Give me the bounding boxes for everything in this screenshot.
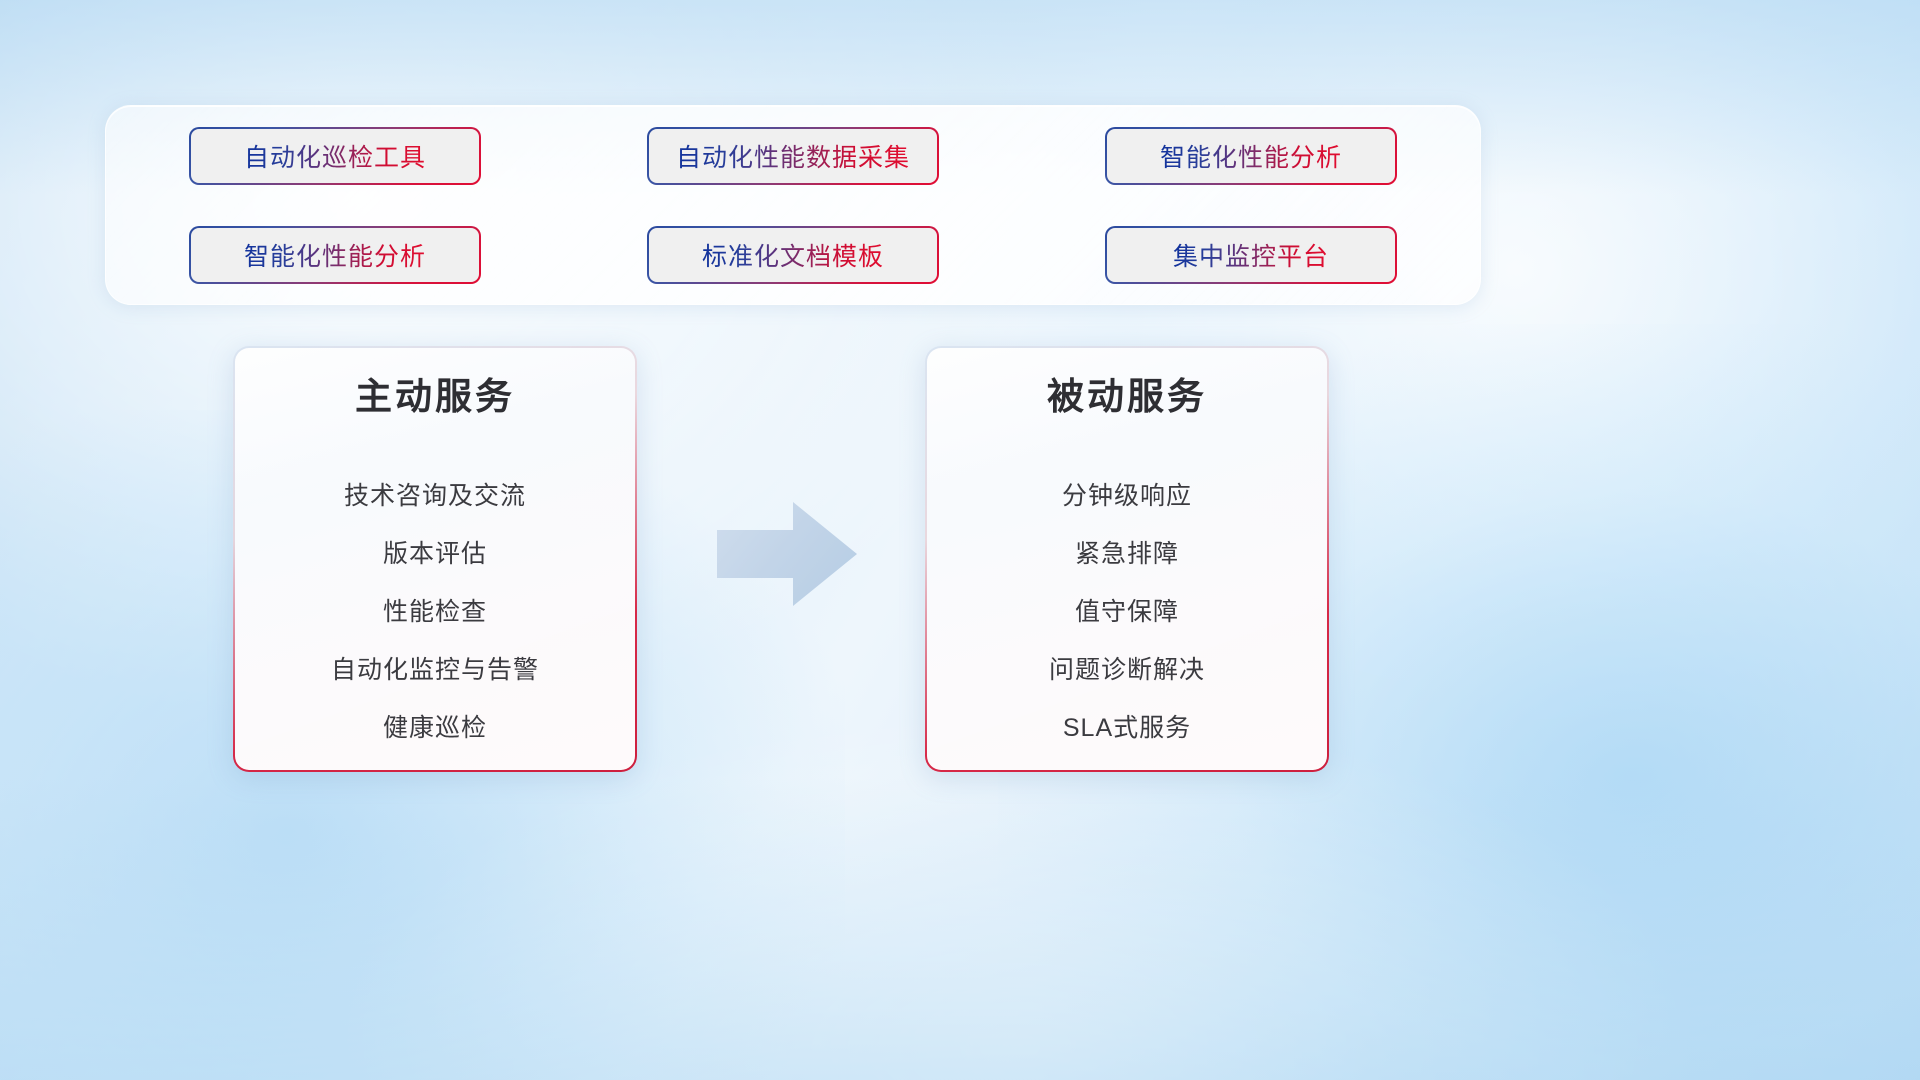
list-item: 分钟级响应 — [1062, 467, 1192, 525]
capability-pill-6[interactable]: 集中监控平台 — [1105, 226, 1397, 284]
capability-pill-4-surface: 智能化性能分析 — [191, 228, 479, 282]
capability-pill-2[interactable]: 自动化性能数据采集 — [647, 127, 939, 185]
capability-pill-3-surface: 智能化性能分析 — [1107, 129, 1395, 183]
capability-pill-6-label: 集中监控平台 — [1173, 237, 1329, 273]
capability-pill-5-label: 标准化文档模板 — [702, 237, 884, 273]
list-item: 性能检查 — [383, 583, 487, 641]
service-card-passive: 被动服务 分钟级响应 紧急排障 值守保障 问题诊断解决 SLA式服务 — [925, 346, 1329, 772]
arrow-right-icon — [717, 500, 857, 608]
list-item: 版本评估 — [383, 525, 487, 583]
list-item: SLA式服务 — [1063, 699, 1191, 757]
capability-pill-2-label: 自动化性能数据采集 — [676, 138, 910, 174]
capability-pill-6-surface: 集中监控平台 — [1107, 228, 1395, 282]
capability-panel: 自动化巡检工具 自动化性能数据采集 智能化性能分析 智能化性能分析 标准化文档模… — [105, 105, 1481, 305]
capability-pill-5-surface: 标准化文档模板 — [649, 228, 937, 282]
list-item: 值守保障 — [1075, 583, 1179, 641]
list-item: 自动化监控与告警 — [331, 641, 539, 699]
list-item: 问题诊断解决 — [1049, 641, 1205, 699]
list-item: 健康巡检 — [383, 699, 487, 757]
capability-pill-3-label: 智能化性能分析 — [1160, 138, 1342, 174]
list-item: 紧急排障 — [1075, 525, 1179, 583]
service-card-active-inner: 主动服务 技术咨询及交流 版本评估 性能检查 自动化监控与告警 健康巡检 — [235, 348, 635, 770]
service-card-active: 主动服务 技术咨询及交流 版本评估 性能检查 自动化监控与告警 健康巡检 — [233, 346, 637, 772]
capability-pill-4[interactable]: 智能化性能分析 — [189, 226, 481, 284]
capability-pill-1-surface: 自动化巡检工具 — [191, 129, 479, 183]
service-card-passive-inner: 被动服务 分钟级响应 紧急排障 值守保障 问题诊断解决 SLA式服务 — [927, 348, 1327, 770]
capability-pill-2-surface: 自动化性能数据采集 — [649, 129, 937, 183]
capability-pill-4-label: 智能化性能分析 — [244, 237, 426, 273]
capability-pill-1[interactable]: 自动化巡检工具 — [189, 127, 481, 185]
capability-pill-grid: 自动化巡检工具 自动化性能数据采集 智能化性能分析 智能化性能分析 标准化文档模… — [106, 106, 1480, 304]
capability-pill-1-label: 自动化巡检工具 — [244, 138, 426, 174]
service-card-passive-list: 分钟级响应 紧急排障 值守保障 问题诊断解决 SLA式服务 — [951, 467, 1303, 757]
service-card-active-title: 主动服务 — [355, 376, 515, 419]
capability-pill-5[interactable]: 标准化文档模板 — [647, 226, 939, 284]
service-card-active-list: 技术咨询及交流 版本评估 性能检查 自动化监控与告警 健康巡检 — [259, 467, 611, 757]
capability-pill-3[interactable]: 智能化性能分析 — [1105, 127, 1397, 185]
list-item: 技术咨询及交流 — [344, 467, 526, 525]
service-card-passive-title: 被动服务 — [1047, 376, 1207, 419]
